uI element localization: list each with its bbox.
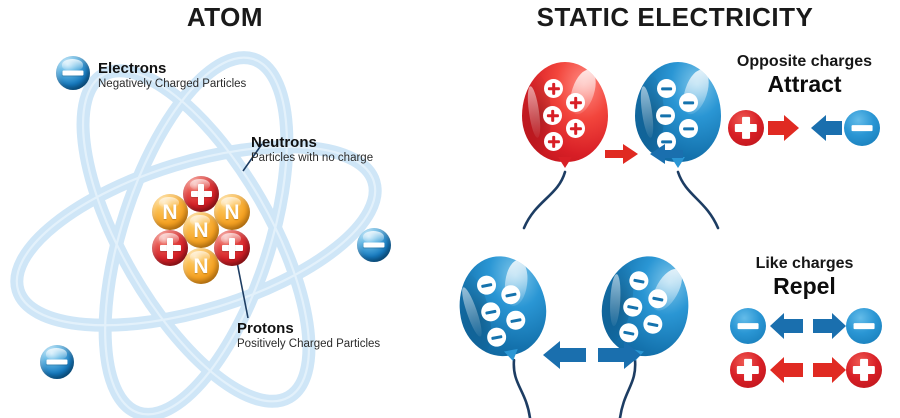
neutron-particle: N xyxy=(183,248,219,284)
charge-plus-icon xyxy=(566,119,585,138)
neutron-particle: N xyxy=(214,194,250,230)
repel-legend-arrows-minus xyxy=(770,311,846,341)
callout-neutrons-title: Neutrons xyxy=(251,134,373,151)
minus-sign-icon xyxy=(62,70,83,75)
atom-panel: ATOM xyxy=(0,0,450,418)
callout-protons: Protons Positively Charged Particles xyxy=(237,320,380,352)
attract-heading-big: Attract xyxy=(712,71,897,97)
neutron-label: N xyxy=(162,202,177,223)
repel-arrows-between-balloons xyxy=(542,340,642,370)
neutron-label: N xyxy=(193,220,208,241)
legend-plus-circle-left xyxy=(730,352,766,388)
attract-heading-block: Opposite charges Attract xyxy=(712,53,897,97)
callout-protons-title: Protons xyxy=(237,320,380,337)
repel-legend-arrows-plus xyxy=(770,355,846,385)
callout-electrons-subtitle: Negatively Charged Particles xyxy=(98,77,246,91)
legend-minus-circle-attract xyxy=(844,110,880,146)
callout-neutrons: Neutrons Particles with no charge xyxy=(251,134,373,166)
charge-minus-icon xyxy=(679,119,698,138)
electron-bottom-left xyxy=(40,345,74,379)
charge-minus-icon xyxy=(656,106,675,125)
attract-arrows-between-balloons xyxy=(605,143,685,171)
balloon-body xyxy=(522,62,608,162)
charge-minus-icon xyxy=(657,79,676,98)
charge-plus-icon xyxy=(544,132,563,151)
repel-heading-small: Like charges xyxy=(712,255,897,273)
atom-nucleus: N N N N xyxy=(152,176,250,284)
repel-heading-big: Repel xyxy=(712,273,897,299)
charge-plus-icon xyxy=(544,79,563,98)
plus-sign-icon xyxy=(222,238,243,259)
plus-sign-icon xyxy=(860,359,868,381)
static-electricity-panel: STATIC ELECTRICITY xyxy=(450,0,900,418)
plus-sign-icon xyxy=(744,359,752,381)
infographic-canvas: ATOM xyxy=(0,0,900,418)
callout-electrons-title: Electrons xyxy=(98,60,246,77)
callout-protons-subtitle: Positively Charged Particles xyxy=(237,337,380,351)
minus-sign-icon xyxy=(852,125,873,131)
charge-plus-icon xyxy=(566,93,585,112)
charge-plus-icon xyxy=(543,106,562,125)
legend-minus-circle-left xyxy=(730,308,766,344)
attract-heading-small: Opposite charges xyxy=(712,53,897,71)
minus-sign-icon xyxy=(738,323,759,329)
legend-plus-circle-right xyxy=(846,352,882,388)
electron-right xyxy=(357,228,391,262)
balloon-knot xyxy=(558,157,572,168)
proton-particle xyxy=(214,230,250,266)
minus-sign-icon xyxy=(363,242,384,247)
plus-sign-icon xyxy=(191,184,212,205)
minus-sign-icon xyxy=(46,359,67,364)
minus-sign-icon xyxy=(854,323,875,329)
legend-plus-circle-attract xyxy=(728,110,764,146)
neutron-label: N xyxy=(193,256,208,277)
attract-legend-arrows xyxy=(768,113,846,143)
callout-electrons: Electrons Negatively Charged Particles xyxy=(98,60,246,92)
charge-minus-icon xyxy=(679,93,698,112)
balloon-red-positive xyxy=(522,62,608,168)
legend-minus-circle-right xyxy=(846,308,882,344)
electron-top-left xyxy=(56,56,90,90)
plus-sign-icon xyxy=(742,117,750,139)
plus-sign-icon xyxy=(160,238,181,259)
neutron-label: N xyxy=(224,202,239,223)
repel-heading-block: Like charges Repel xyxy=(712,255,897,299)
callout-neutrons-subtitle: Particles with no charge xyxy=(251,151,373,165)
